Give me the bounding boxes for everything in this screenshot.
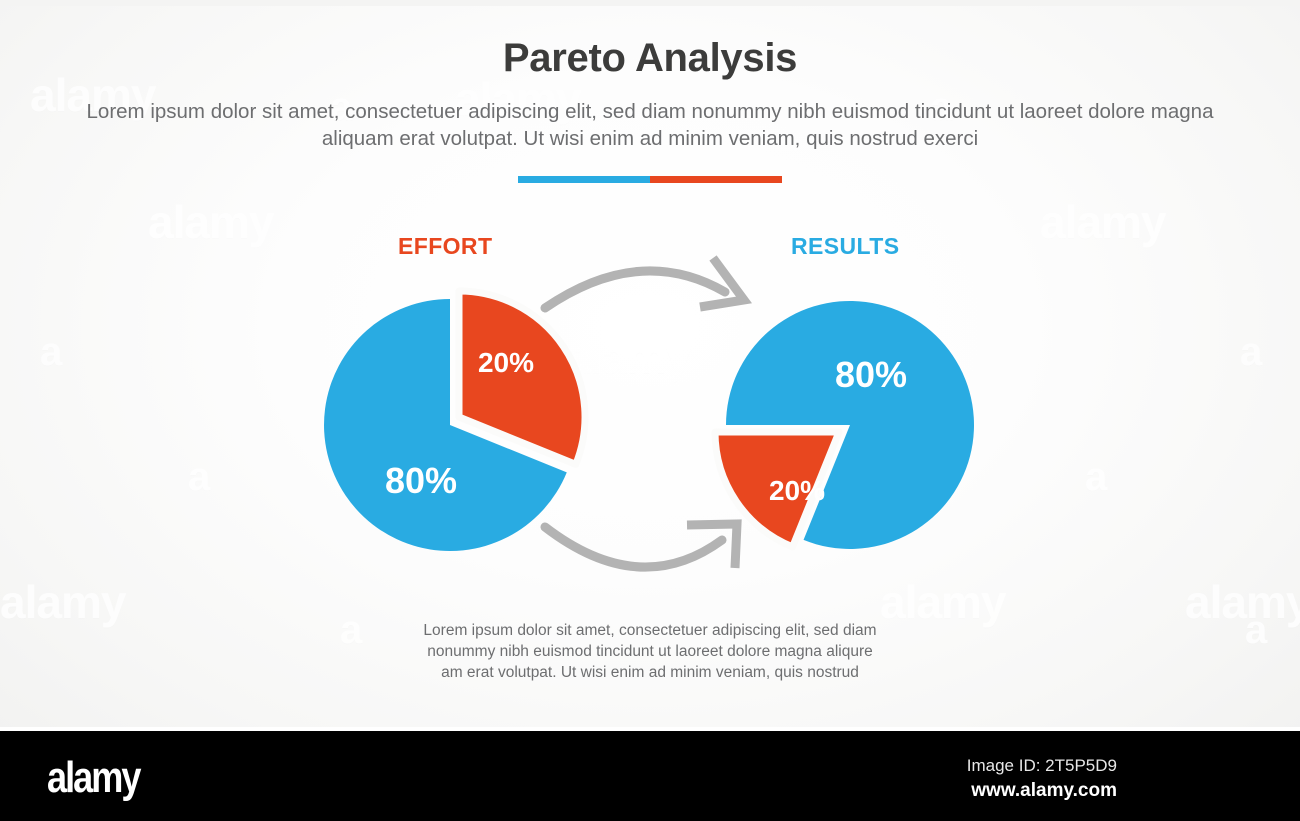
divider-segment-red [650,176,782,183]
arrow-bottom-effort-to-results [545,524,737,568]
pie-label-effort-blue: 80% [385,460,457,501]
caption-line-1: Lorem ipsum dolor sit amet, consectetuer… [370,620,930,641]
divider-bar [518,176,782,183]
arrow-top-effort-to-results [545,258,744,308]
pie-chart-results: 80% 20% [715,301,974,549]
page-subtitle: Lorem ipsum dolor sit amet, consectetuer… [85,98,1215,152]
alamy-url-text: www.alamy.com [971,780,1117,802]
slide-artboard: alamy alamy a a alamy a alamy a a alamy … [0,0,1300,727]
pie-label-results-red: 20% [769,475,825,506]
top-edge-strip [0,0,1300,6]
screenshot-canvas: alamy alamy a a alamy a alamy a a alamy … [0,0,1300,821]
pie-label-results-blue: 80% [835,354,907,395]
page-title: Pareto Analysis [0,36,1300,81]
pie-chart-effort: 20% 80% [324,291,585,551]
image-id-text: Image ID: 2T5P5D9 [967,756,1117,776]
label-results: RESULTS [791,233,899,260]
alamy-footer-bar: alamy Image ID: 2T5P5D9 www.alamy.com [0,731,1300,821]
alamy-logo: alamy [47,753,139,803]
label-effort: EFFORT [398,233,492,260]
caption-line-2: nonummy nibh euismod tincidunt ut laoree… [370,641,930,662]
divider-segment-blue [518,176,650,183]
caption-line-3: am erat volutpat. Ut wisi enim ad minim … [370,662,930,683]
pie-label-effort-red: 20% [478,347,534,378]
bottom-caption: Lorem ipsum dolor sit amet, consectetuer… [370,620,930,683]
